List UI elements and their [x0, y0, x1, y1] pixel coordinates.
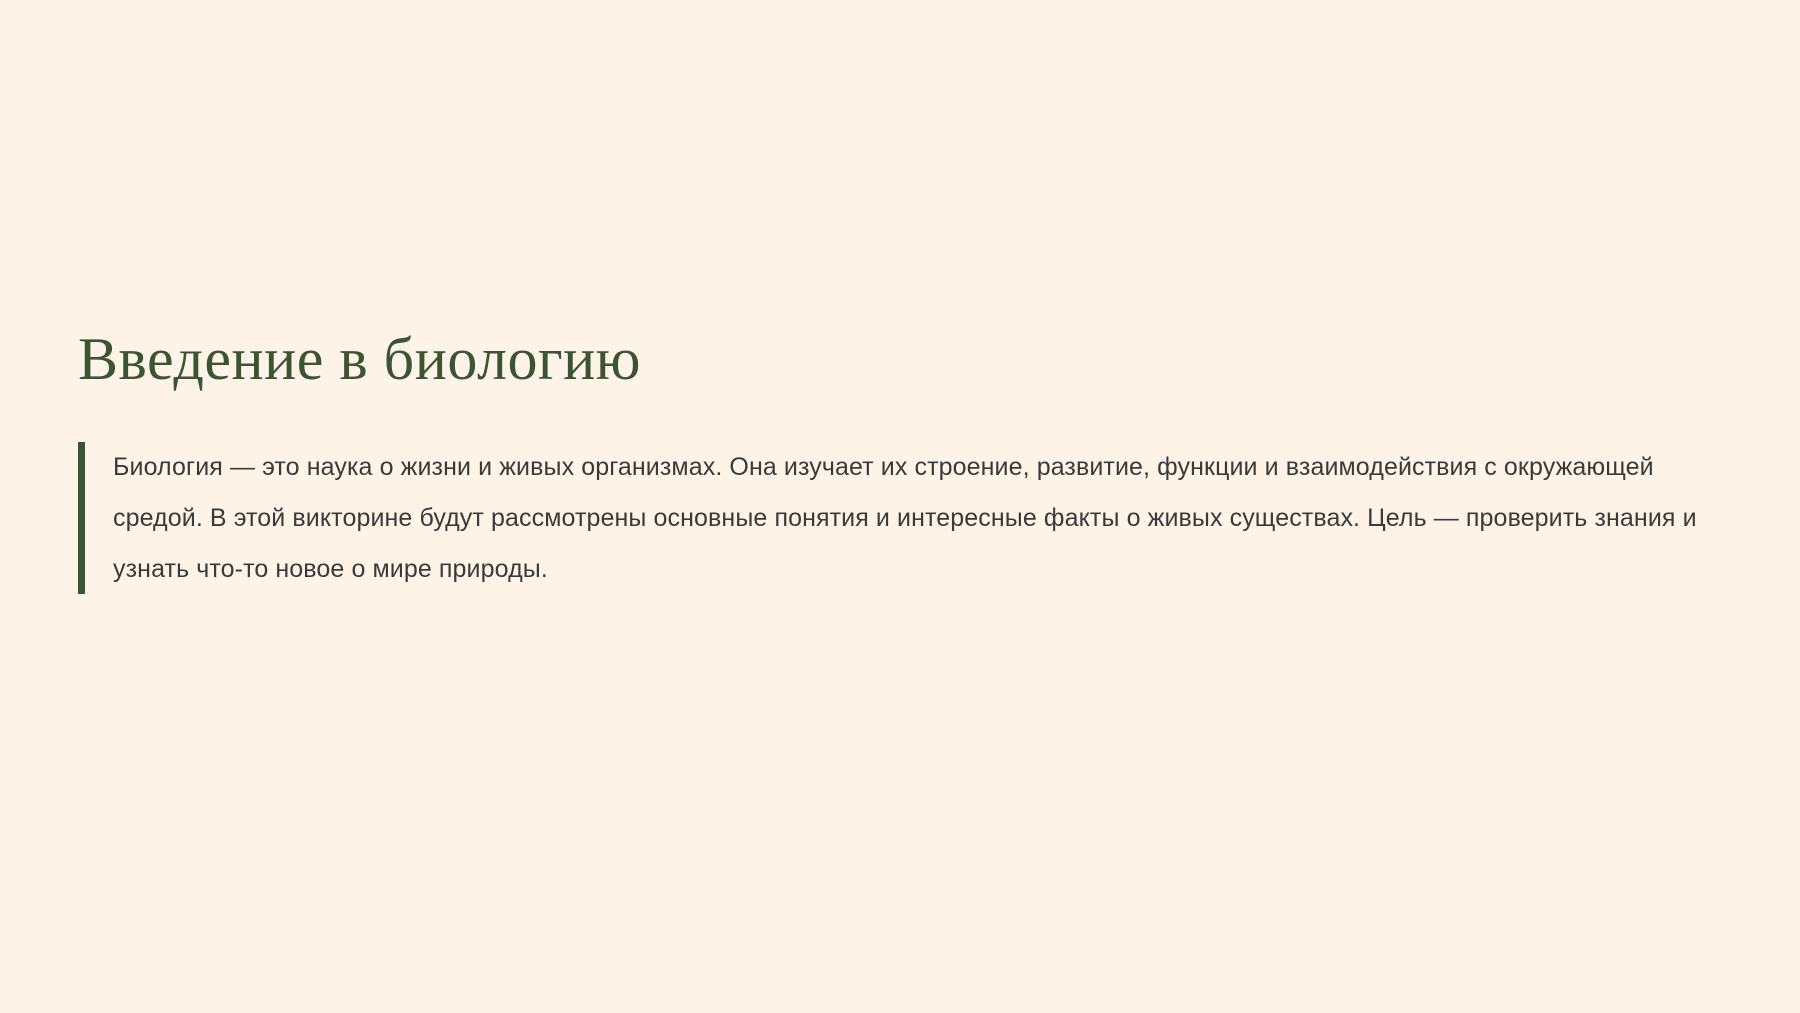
accent-bar: [78, 442, 85, 594]
intro-paragraph: Биология — это наука о жизни и живых орг…: [113, 442, 1713, 595]
intro-callout: Биология — это наука о жизни и живых орг…: [78, 442, 1728, 595]
slide-content-block: Введение в биологию Биология — это наука…: [78, 325, 1728, 595]
slide-canvas: Введение в биологию Биология — это наука…: [0, 0, 1800, 1013]
page-title: Введение в биологию: [78, 325, 1728, 395]
